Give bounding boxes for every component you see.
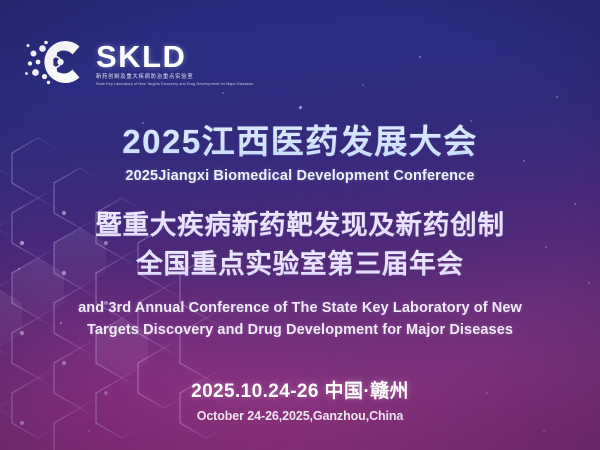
conference-poster: SKLD 新药创制及重大疾病防治重点实验室 State Key Laborato… bbox=[0, 0, 600, 450]
logo-subtitle-en: State Key Laboratory of New Targets Disc… bbox=[96, 82, 253, 87]
description-block: and 3rd Annual Conference of The State K… bbox=[0, 297, 600, 341]
subtitle-cn-line1: 暨重大疾病新药靶发现及新药创制 bbox=[0, 206, 600, 244]
description-en-line2: Targets Discovery and Drug Development f… bbox=[0, 319, 600, 341]
description-en-line1: and 3rd Annual Conference of The State K… bbox=[0, 297, 600, 319]
event-date-location-cn: 2025.10.24-26 中国·赣州 bbox=[0, 381, 600, 404]
poster-content: 2025江西医药发展大会 2025Jiangxi Biomedical Deve… bbox=[0, 124, 600, 341]
skld-logo: SKLD 新药创制及重大疾病防治重点实验室 State Key Laborato… bbox=[24, 32, 253, 92]
page-title-en: 2025Jiangxi Biomedical Development Confe… bbox=[0, 168, 600, 185]
subtitle-block: 暨重大疾病新药靶发现及新药创制 全国重点实验室第三届年会 bbox=[0, 206, 600, 283]
page-title-cn: 2025江西医药发展大会 bbox=[0, 124, 600, 161]
logo-subtitle-cn: 新药创制及重大疾病防治重点实验室 bbox=[96, 74, 253, 81]
logo-wordmark: SKLD bbox=[96, 41, 253, 72]
skld-molecular-c-logo-icon bbox=[24, 32, 90, 92]
event-date-location-en: October 24-26,2025,Ganzhou,China bbox=[0, 409, 600, 424]
poster-footer: 2025.10.24-26 中国·赣州 October 24-26,2025,G… bbox=[0, 381, 600, 424]
subtitle-cn-line2: 全国重点实验室第三届年会 bbox=[0, 245, 600, 283]
